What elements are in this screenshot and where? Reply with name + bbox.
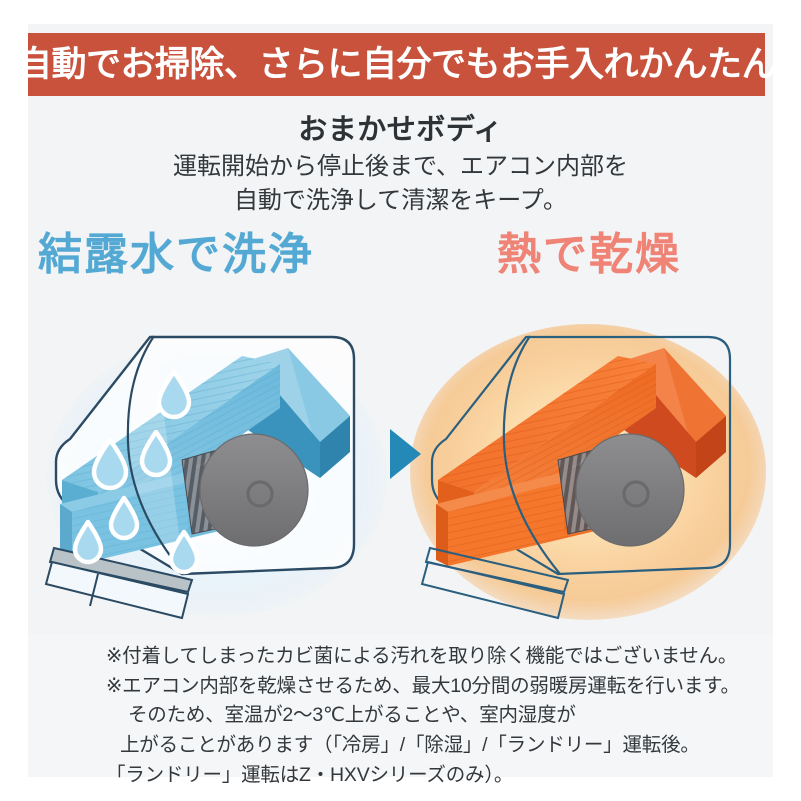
- illustration-dry-orange: [408, 312, 768, 632]
- footnote-line-1: ※付着してしまったカビ菌による汚れを取り除く機能ではございません。: [28, 642, 773, 672]
- footnote-line-5: 「ランドリー」運転はZ・HXVシリーズのみ）。: [28, 761, 773, 791]
- footnote-line-3: そのため、室温が2～3℃上がることや、室内湿度が: [28, 701, 773, 731]
- lead-paragraph: 運転開始から停止後まで、エアコン内部を 自動で洗浄して清潔をキープ。: [0, 150, 801, 218]
- footnote-line-4: 上がることがあります（「冷房」/「除湿」/「ランドリー」運転後。: [28, 731, 773, 761]
- page-subtitle: おまかせボディ: [0, 106, 801, 148]
- headline-banner-text: 自動でお掃除、さらに自分でもお手入れかんたん: [17, 47, 776, 82]
- footnotes-block: ※付着してしまったカビ菌による汚れを取り除く機能ではございません。 ※エアコン内…: [28, 634, 773, 777]
- section-heading-dry: 熱で乾燥: [497, 233, 681, 277]
- illustration-wash-blue: [32, 312, 392, 632]
- infographic-page: 自動でお掃除、さらに自分でもお手入れかんたん おまかせボディ 運転開始から停止後…: [0, 0, 801, 801]
- right-arrow-icon: [388, 427, 422, 481]
- lead-line-1: 運転開始から停止後まで、エアコン内部を: [0, 150, 801, 184]
- headline-banner: 自動でお掃除、さらに自分でもお手入れかんたん: [28, 33, 765, 96]
- footnote-line-2: ※エアコン内部を乾燥させるため、最大10分間の弱暖房運転を行います。: [28, 672, 773, 702]
- section-heading-wash: 結露水で洗浄: [38, 233, 314, 277]
- lead-line-2: 自動で洗浄して清潔をキープ。: [0, 184, 801, 218]
